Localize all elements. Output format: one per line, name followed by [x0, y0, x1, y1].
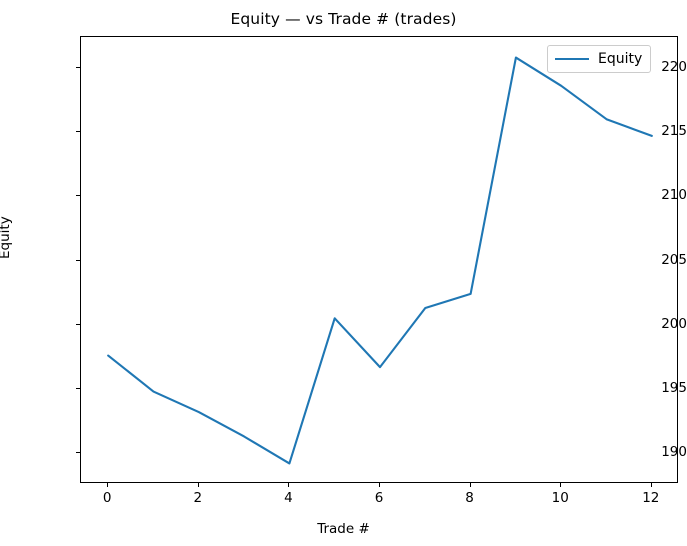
x-axis-label: Trade # [0, 521, 687, 537]
chart-title: Equity — vs Trade # (trades) [0, 10, 687, 28]
equity-series-line [108, 58, 652, 464]
equity-line-plot [81, 37, 679, 484]
x-tick-label: 2 [168, 490, 228, 506]
legend-line-swatch [555, 58, 589, 60]
legend: Equity [547, 45, 651, 73]
x-tick-label: 0 [77, 490, 137, 506]
legend-label-equity: Equity [598, 51, 642, 67]
chart-figure: Equity — vs Trade # (trades) 19019520020… [0, 0, 687, 546]
x-tick-label: 6 [349, 490, 409, 506]
y-axis-label: Equity [0, 216, 13, 259]
x-tick-label: 10 [530, 490, 590, 506]
x-tick-label: 12 [621, 490, 681, 506]
x-tick-label: 4 [258, 490, 318, 506]
x-tick-label: 8 [440, 490, 500, 506]
plot-area [80, 36, 678, 483]
